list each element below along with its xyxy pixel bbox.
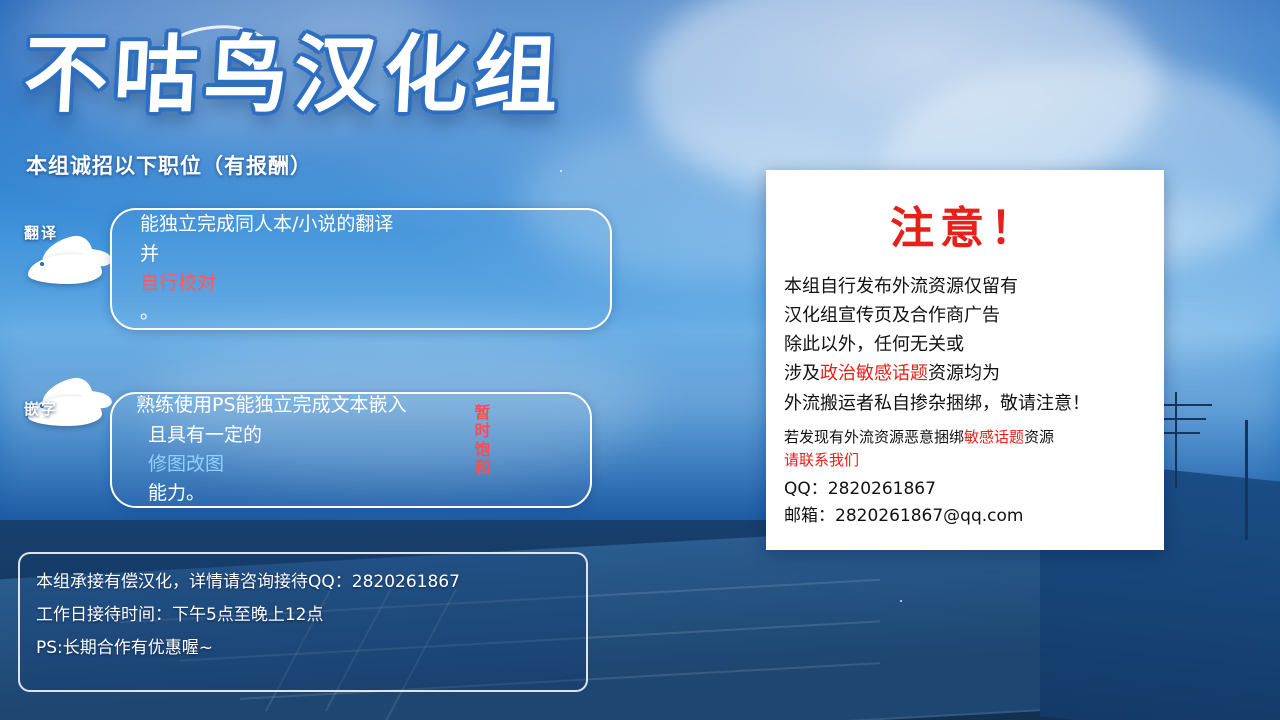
role-line-2-part-a: 并 bbox=[140, 240, 610, 269]
role-line-2-part-b: 自行校对 bbox=[140, 269, 610, 298]
footer-line-1: 本组承接有偿汉化，详情请咨询接待QQ：2820261867 bbox=[36, 566, 576, 599]
role-line-1: 熟练使用PS能独立完成文本嵌入 bbox=[136, 391, 590, 420]
role-line-2-part-c: 。 bbox=[140, 298, 610, 327]
role-line-2: 并自行校对。 bbox=[140, 240, 610, 328]
poster-canvas: 不咕鸟汉化组 本组诚招以下职位（有报酬） 翻译 能独立完成同人本/小说的翻译 并… bbox=[0, 0, 1280, 720]
dove-eye bbox=[40, 262, 44, 266]
role-line-2-part-a: 且具有一定的 bbox=[148, 421, 590, 450]
notice-body: 本组自行发布外流资源仅留有 汉化组宣传页及合作商广告 除此以外，任何无关或 涉及… bbox=[784, 272, 1164, 418]
dove-icon bbox=[22, 236, 108, 298]
notice-body-line: 除此以外，任何无关或 bbox=[784, 330, 1164, 359]
notice-email: 邮箱：2820261867@qq.com bbox=[784, 503, 1164, 529]
status-badge-saturated: 暂时饱和 bbox=[474, 404, 492, 478]
notice-line4-suffix: 资源均为 bbox=[928, 363, 1000, 384]
notice-body-line: 汉化组宣传页及合作商广告 bbox=[784, 301, 1164, 330]
footer-line-2: 工作日接待时间：下午5点至晚上12点 bbox=[36, 599, 576, 632]
notice-body-line: 外流搬运者私自掺杂捆绑，敬请注意！ bbox=[784, 389, 1164, 418]
role-banner-translator: 能独立完成同人本/小说的翻译 并自行校对。 bbox=[110, 208, 612, 330]
role-line-2-part-c: 能力。 bbox=[148, 479, 590, 508]
footer-card: 本组承接有偿汉化，详情请咨询接待QQ：2820261867 工作日接待时间：下午… bbox=[18, 552, 588, 692]
footer-text: 本组承接有偿汉化，详情请咨询接待QQ：2820261867 工作日接待时间：下午… bbox=[36, 566, 576, 665]
notice-body-line: 涉及政治敏感话题资源均为 bbox=[784, 359, 1164, 388]
notice-small-block: 若发现有外流资源恶意捆绑敏感话题资源 请联系我们 QQ：2820261867 邮… bbox=[784, 426, 1164, 529]
notice-body-line: 本组自行发布外流资源仅留有 bbox=[784, 272, 1164, 301]
notice-small-line-1: 若发现有外流资源恶意捆绑敏感话题资源 bbox=[784, 426, 1164, 449]
footer-line-3: PS:长期合作有优惠喔~ bbox=[36, 632, 576, 665]
antenna-icon bbox=[1175, 392, 1177, 488]
sparkle-dot bbox=[900, 600, 902, 602]
role-line-2: 且具有一定的修图改图能力。 bbox=[136, 421, 590, 509]
notice-small-prefix: 若发现有外流资源恶意捆绑 bbox=[784, 428, 964, 446]
utility-pole bbox=[1245, 420, 1248, 540]
notice-card: 注意！ 本组自行发布外流资源仅留有 汉化组宣传页及合作商广告 除此以外，任何无关… bbox=[766, 170, 1164, 550]
group-title: 不咕鸟汉化组 bbox=[21, 14, 767, 136]
notice-small-suffix: 资源 bbox=[1024, 428, 1054, 446]
notice-small-red: 敏感话题 bbox=[964, 428, 1024, 446]
recruit-subtitle: 本组诚招以下职位（有报酬） bbox=[26, 150, 312, 180]
notice-line4-prefix: 涉及 bbox=[784, 363, 820, 384]
role-tag-translator: 翻译 bbox=[24, 222, 58, 243]
notice-title: 注意！ bbox=[766, 192, 1164, 256]
notice-contact-us: 请联系我们 bbox=[784, 449, 1164, 472]
sparkle-dot bbox=[560, 170, 562, 172]
role-line-2-part-b: 修图改图 bbox=[148, 450, 590, 479]
notice-qq: QQ：2820261867 bbox=[784, 476, 1164, 502]
role-tag-typesetter: 嵌字 bbox=[24, 398, 58, 419]
notice-line4-red: 政治敏感话题 bbox=[820, 363, 928, 384]
role-banner-typesetter: 熟练使用PS能独立完成文本嵌入 且具有一定的修图改图能力。 bbox=[110, 392, 592, 508]
role-line-1: 能独立完成同人本/小说的翻译 bbox=[140, 210, 610, 239]
